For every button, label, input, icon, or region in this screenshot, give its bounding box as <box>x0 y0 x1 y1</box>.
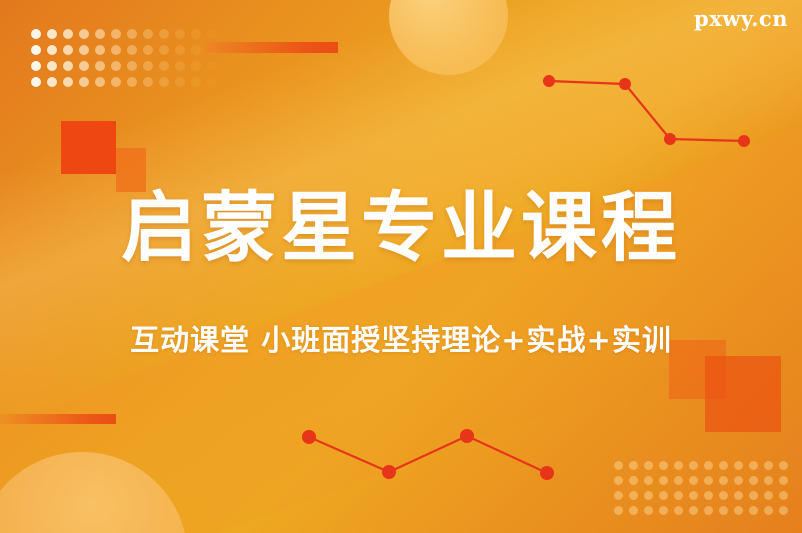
decor-dot <box>704 491 713 500</box>
decor-dot <box>689 461 698 470</box>
decor-dot <box>734 506 743 515</box>
decor-dot <box>734 476 743 485</box>
decor-dot <box>719 476 728 485</box>
decor-dot <box>779 461 788 470</box>
decor-dot <box>207 45 217 55</box>
decor-dot <box>719 506 728 515</box>
decor-dot <box>79 61 89 71</box>
decor-dot <box>614 476 623 485</box>
decor-dot <box>191 77 201 87</box>
course-promo-banner: 启蒙星专业课程 互动课堂 小班面授坚持理论+实战+实训 pxwy.cn <box>0 0 802 533</box>
decor-dot <box>764 506 773 515</box>
decor-dot <box>175 61 185 71</box>
decor-dot <box>749 491 758 500</box>
decor-dot <box>614 506 623 515</box>
decor-dot <box>704 476 713 485</box>
decor-dot <box>719 461 728 470</box>
decor-dot <box>764 461 773 470</box>
decor-dot <box>63 29 73 39</box>
decor-dot <box>749 506 758 515</box>
decor-dot <box>31 29 41 39</box>
decor-dot <box>95 77 105 87</box>
decor-dot <box>659 506 668 515</box>
watermark-label: pxwy.cn <box>694 6 788 31</box>
decor-dot <box>111 29 121 39</box>
decor-dot <box>629 461 638 470</box>
decor-dot <box>644 491 653 500</box>
decor-dot <box>689 506 698 515</box>
decor-dot <box>659 461 668 470</box>
decor-dot <box>614 491 623 500</box>
decor-dot <box>659 491 668 500</box>
decor-dot <box>764 491 773 500</box>
decor-dot <box>734 491 743 500</box>
decor-dot <box>63 61 73 71</box>
decor-dot <box>207 61 217 71</box>
decor-dot <box>674 491 683 500</box>
decor-dot <box>31 77 41 87</box>
decor-dot <box>95 61 105 71</box>
decor-dot <box>629 476 638 485</box>
decor-dot <box>191 45 201 55</box>
decor-dot <box>127 29 137 39</box>
banner-title: 启蒙星专业课程 <box>0 186 802 270</box>
decor-dot <box>704 506 713 515</box>
decor-polyline-path <box>309 436 547 473</box>
decor-dot <box>111 61 121 71</box>
decor-dot <box>47 45 57 55</box>
decor-dot <box>31 61 41 71</box>
decor-dot <box>644 461 653 470</box>
decor-dot <box>659 476 668 485</box>
decor-polyline-node <box>664 133 676 145</box>
decor-dot <box>143 77 153 87</box>
decor-dot <box>63 77 73 87</box>
decor-dot <box>95 29 105 39</box>
decor-dot-grid-top-left <box>28 26 220 90</box>
decor-polyline-node <box>619 78 631 90</box>
decor-dot <box>644 476 653 485</box>
banner-subtitle: 互动课堂 小班面授坚持理论+实战+实训 <box>0 320 802 360</box>
decor-polyline-top-right <box>543 75 750 147</box>
decor-dot <box>143 29 153 39</box>
decor-dot <box>207 77 217 87</box>
decor-dot <box>749 476 758 485</box>
decor-dot <box>111 45 121 55</box>
decor-dot <box>689 491 698 500</box>
decor-dot <box>764 476 773 485</box>
decor-dot <box>719 491 728 500</box>
decor-dot <box>159 77 169 87</box>
decor-dot <box>749 461 758 470</box>
decor-dot <box>31 45 41 55</box>
decor-dot <box>79 77 89 87</box>
decor-polyline-node <box>738 135 750 147</box>
decor-dot <box>95 45 105 55</box>
decor-dot <box>143 45 153 55</box>
decor-dot <box>644 506 653 515</box>
decor-dot <box>207 29 217 39</box>
decor-dot <box>191 29 201 39</box>
decor-circle-bottom-left <box>0 452 188 533</box>
diagonal-band-lower <box>0 65 802 533</box>
decor-dot <box>47 29 57 39</box>
decor-dot <box>79 45 89 55</box>
decor-dot <box>191 61 201 71</box>
decor-polyline-bottom <box>302 429 554 480</box>
decor-polyline-node <box>460 429 474 443</box>
decor-dot <box>159 61 169 71</box>
decor-dot <box>674 461 683 470</box>
decor-dot <box>779 476 788 485</box>
decor-polyline-node <box>302 430 316 444</box>
decor-dot <box>127 45 137 55</box>
decor-circle-top <box>389 0 508 75</box>
decor-dot <box>175 29 185 39</box>
decor-polyline-node <box>382 465 396 479</box>
decor-dot-grid-bottom-right <box>611 458 791 518</box>
decor-dot <box>704 461 713 470</box>
decor-dot <box>47 77 57 87</box>
decor-dot <box>127 77 137 87</box>
decor-dot <box>143 61 153 71</box>
decor-dot <box>175 45 185 55</box>
decor-dot <box>779 491 788 500</box>
decor-dot <box>63 45 73 55</box>
decor-dot <box>111 77 121 87</box>
decor-dot <box>614 461 623 470</box>
decor-dot <box>689 476 698 485</box>
decor-dot <box>629 491 638 500</box>
decor-dot <box>629 506 638 515</box>
decor-dot <box>127 61 137 71</box>
decor-dot <box>159 29 169 39</box>
decor-dot <box>779 506 788 515</box>
decor-dot <box>674 506 683 515</box>
decor-square-red-top-left <box>61 121 116 174</box>
decor-dot <box>79 29 89 39</box>
decor-polyline-node <box>543 75 555 87</box>
decor-dot <box>674 476 683 485</box>
decor-bar-bottom <box>0 414 116 424</box>
decor-dot <box>734 461 743 470</box>
decor-square-bottom-right-b <box>705 356 781 432</box>
decor-dot <box>47 61 57 71</box>
decor-dot <box>175 77 185 87</box>
decor-bar-top <box>205 42 338 53</box>
decor-polyline-node <box>540 466 554 480</box>
decor-polyline-path <box>549 81 744 141</box>
decor-dot <box>159 45 169 55</box>
